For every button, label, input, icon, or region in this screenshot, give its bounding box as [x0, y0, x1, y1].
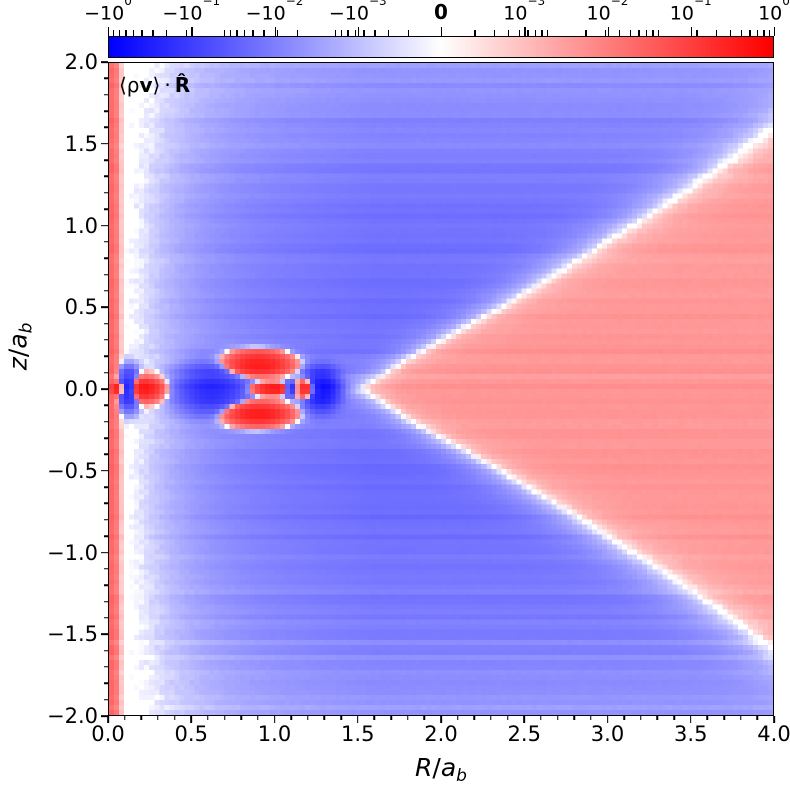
- colorbar-tick-labels: −100−10−1−10−2−10−3010−310−210−1100: [0, 0, 790, 34]
- x-minor-tick: [407, 716, 409, 720]
- colorbar-minor-tick: [166, 30, 167, 36]
- x-minor-tick: [640, 716, 642, 720]
- x-axis-title: R/ab: [108, 753, 774, 786]
- colorbar-minor-tick: [474, 30, 475, 36]
- colorbar-minor-tick: [119, 30, 120, 36]
- colorbar-minor-tick: [355, 30, 356, 36]
- x-tick-label: 0.5: [175, 722, 208, 746]
- colorbar-minor-tick: [347, 30, 348, 36]
- colorbar-minor-tick: [763, 30, 764, 36]
- colorbar-minor-tick: [508, 30, 509, 36]
- colorbar-minor-tick: [605, 30, 606, 36]
- y-axis-title: z/ab: [4, 19, 37, 673]
- colorbar-minor-tick: [730, 30, 731, 36]
- colorbar-major-tick: [358, 27, 359, 36]
- colorbar-minor-tick: [519, 30, 520, 36]
- x-minor-tick: [307, 716, 309, 720]
- x-minor-tick: [240, 716, 242, 720]
- colorbar-major-tick: [191, 27, 192, 36]
- colorbar-tick-label: −10−2: [246, 2, 304, 23]
- colorbar-minor-tick: [230, 30, 231, 36]
- x-tick-label: 3.5: [674, 722, 707, 746]
- colorbar-tick-label: 10−3: [503, 2, 545, 23]
- colorbar-minor-tick: [141, 30, 142, 36]
- x-minor-tick: [590, 716, 592, 720]
- colorbar-major-tick: [691, 27, 692, 36]
- colorbar-minor-tick: [113, 30, 114, 36]
- x-minor-tick: [490, 716, 492, 720]
- colorbar-tick-label: 10−1: [670, 2, 712, 23]
- x-minor-tick: [623, 716, 625, 720]
- colorbar-minor-tick: [363, 30, 364, 36]
- colorbar-minor-tick: [335, 30, 336, 36]
- figure-root: −100−10−1−10−2−10−3010−310−210−1100 ⟨ρv⟩…: [0, 0, 790, 789]
- colorbar-gradient: [109, 37, 773, 57]
- colorbar-minor-tick: [408, 30, 409, 36]
- y-tick-label: −2.0: [0, 704, 98, 728]
- x-minor-tick: [457, 716, 459, 720]
- colorbar-minor-tick: [133, 30, 134, 36]
- colorbar-minor-tick: [374, 30, 375, 36]
- colorbar-minor-tick: [769, 30, 770, 36]
- colorbar-major-tick: [608, 27, 609, 36]
- colorbar-minor-tick: [277, 30, 278, 36]
- colorbar-minor-tick: [757, 30, 758, 36]
- colorbar-minor-tick: [535, 30, 536, 36]
- x-minor-tick: [474, 716, 476, 720]
- colorbar-minor-tick: [652, 30, 653, 36]
- colorbar-tick-label: 0: [434, 2, 448, 22]
- x-minor-tick: [573, 716, 575, 720]
- x-minor-tick: [424, 716, 426, 720]
- colorbar-minor-tick: [619, 30, 620, 36]
- colorbar-tick-label: 100: [758, 2, 790, 23]
- x-tick-label: 4.0: [757, 722, 790, 746]
- colorbar-minor-tick: [297, 30, 298, 36]
- x-minor-tick: [374, 716, 376, 720]
- x-minor-tick: [157, 716, 159, 720]
- x-axis-tick-labels: 0.00.51.01.52.02.53.03.54.0: [108, 722, 774, 752]
- colorbar-minor-tick: [263, 30, 264, 36]
- x-minor-tick: [390, 716, 392, 720]
- colorbar-minor-tick: [236, 30, 237, 36]
- colorbar-minor-tick: [252, 30, 253, 36]
- colorbar-tick-label: −100: [84, 2, 132, 23]
- colorbar-minor-tick: [585, 30, 586, 36]
- x-minor-tick: [174, 716, 176, 720]
- colorbar-minor-tick: [244, 30, 245, 36]
- x-minor-tick: [707, 716, 709, 720]
- x-minor-tick: [740, 716, 742, 720]
- colorbar-minor-tick: [749, 30, 750, 36]
- x-minor-tick: [207, 716, 209, 720]
- colorbar-minor-tick: [152, 30, 153, 36]
- colorbar: [108, 36, 774, 58]
- colorbar-minor-tick: [638, 30, 639, 36]
- colorbar-minor-tick: [716, 30, 717, 36]
- x-minor-tick: [657, 716, 659, 720]
- x-minor-tick: [124, 716, 126, 720]
- x-minor-tick: [141, 716, 143, 720]
- x-minor-tick: [257, 716, 259, 720]
- x-tick-label: 2.0: [424, 722, 457, 746]
- colorbar-major-tick: [275, 27, 276, 36]
- x-minor-tick: [290, 716, 292, 720]
- colorbar-major-tick: [441, 27, 442, 36]
- x-tick-label: 1.0: [258, 722, 291, 746]
- x-minor-tick: [557, 716, 559, 720]
- x-minor-tick: [673, 716, 675, 720]
- colorbar-minor-tick: [494, 30, 495, 36]
- x-minor-tick: [224, 716, 226, 720]
- x-tick-label: 3.0: [591, 722, 624, 746]
- colorbar-minor-tick: [541, 30, 542, 36]
- colorbar-minor-tick: [547, 30, 548, 36]
- colorbar-major-tick: [108, 27, 109, 36]
- colorbar-minor-tick: [741, 30, 742, 36]
- x-minor-tick: [723, 716, 725, 720]
- x-minor-tick: [507, 716, 509, 720]
- colorbar-major-tick: [524, 27, 525, 36]
- y-axis-tick-labels: −2.0−1.5−1.0−0.50.00.51.01.52.0: [0, 62, 790, 716]
- colorbar-minor-tick: [630, 30, 631, 36]
- x-tick-label: 1.5: [341, 722, 374, 746]
- colorbar-minor-tick: [341, 30, 342, 36]
- colorbar-tick-label: −10−3: [329, 2, 387, 23]
- x-minor-tick: [540, 716, 542, 720]
- colorbar-minor-tick: [388, 30, 389, 36]
- x-minor-tick: [757, 716, 759, 720]
- colorbar-major-tick: [774, 27, 775, 36]
- colorbar-minor-tick: [125, 30, 126, 36]
- x-minor-tick: [324, 716, 326, 720]
- x-tick-label: 0.0: [91, 722, 124, 746]
- colorbar-minor-tick: [646, 30, 647, 36]
- colorbar-minor-tick: [658, 30, 659, 36]
- colorbar-tick-label: −10−1: [162, 2, 220, 23]
- x-minor-tick: [340, 716, 342, 720]
- colorbar-minor-tick: [186, 30, 187, 36]
- colorbar-tick-label: 10−2: [587, 2, 629, 23]
- colorbar-minor-tick: [224, 30, 225, 36]
- colorbar-minor-tick: [527, 30, 528, 36]
- colorbar-minor-tick: [696, 30, 697, 36]
- x-tick-label: 2.5: [508, 722, 541, 746]
